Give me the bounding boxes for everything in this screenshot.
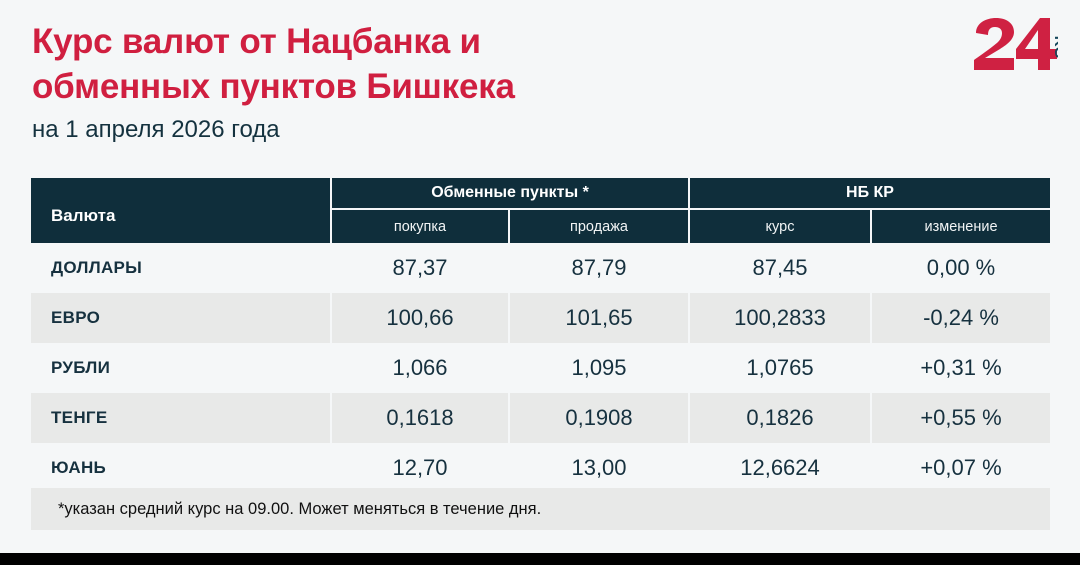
cell-sell: 87,79 xyxy=(509,243,689,293)
cell-sell: 101,65 xyxy=(509,293,689,343)
cell-change: +0,07 % xyxy=(871,443,1050,493)
footnote-row: *указан средний курс на 09.00. Может мен… xyxy=(31,488,1050,530)
cell-change: 0,00 % xyxy=(871,243,1050,293)
column-header-buy: покупка xyxy=(331,209,509,243)
cell-buy: 100,66 xyxy=(331,293,509,343)
cell-sell: 13,00 xyxy=(509,443,689,493)
cell-rate: 87,45 xyxy=(689,243,871,293)
cell-change: +0,55 % xyxy=(871,393,1050,443)
cell-currency: ТЕНГЕ xyxy=(31,393,331,443)
column-header-sell: продажа xyxy=(509,209,689,243)
cell-currency: РУБЛИ xyxy=(31,343,331,393)
column-header-currency: Валюта xyxy=(31,178,331,243)
cell-currency: ДОЛЛАРЫ xyxy=(31,243,331,293)
page-title-line-1: Курс валют от Нацбанка и xyxy=(32,20,792,65)
cell-rate: 12,6624 xyxy=(689,443,871,493)
cell-buy: 87,37 xyxy=(331,243,509,293)
logo-suffix-kg-icon: KG xyxy=(1051,36,1058,59)
column-group-header-nbkr: НБ КР xyxy=(689,178,1050,209)
logo-number-24-icon xyxy=(974,18,1057,70)
bottom-bar xyxy=(0,553,1080,565)
cell-change: +0,31 % xyxy=(871,343,1050,393)
column-header-rate: курс xyxy=(689,209,871,243)
page-header: Курс валют от Нацбанка и обменных пункто… xyxy=(0,0,1080,165)
table-header: Валюта Обменные пункты * НБ КР покупка п… xyxy=(31,178,1050,243)
table-row: ДОЛЛАРЫ 87,37 87,79 87,45 0,00 % xyxy=(31,243,1050,293)
footnote-text: *указан средний курс на 09.00. Может мен… xyxy=(31,500,541,519)
table-body: ДОЛЛАРЫ 87,37 87,79 87,45 0,00 % ЕВРО 10… xyxy=(31,243,1050,493)
cell-currency: ЮАНЬ xyxy=(31,443,331,493)
cell-sell: 1,095 xyxy=(509,343,689,393)
cell-buy: 12,70 xyxy=(331,443,509,493)
cell-rate: 0,1826 xyxy=(689,393,871,443)
table-header-group-row: Валюта Обменные пункты * НБ КР xyxy=(31,178,1050,209)
cell-rate: 100,2833 xyxy=(689,293,871,343)
cell-buy: 1,066 xyxy=(331,343,509,393)
currency-rates-table: Валюта Обменные пункты * НБ КР покупка п… xyxy=(31,178,1050,493)
cell-sell: 0,1908 xyxy=(509,393,689,443)
cell-buy: 0,1618 xyxy=(331,393,509,443)
table-row: ТЕНГЕ 0,1618 0,1908 0,1826 +0,55 % xyxy=(31,393,1050,443)
table-row: РУБЛИ 1,066 1,095 1,0765 +0,31 % xyxy=(31,343,1050,393)
page-title: Курс валют от Нацбанка и обменных пункто… xyxy=(32,20,792,110)
column-header-change: изменение xyxy=(871,209,1050,243)
page-subtitle: на 1 апреля 2026 года xyxy=(32,116,280,144)
cell-rate: 1,0765 xyxy=(689,343,871,393)
cell-change: -0,24 % xyxy=(871,293,1050,343)
currency-rates-table-wrapper: Валюта Обменные пункты * НБ КР покупка п… xyxy=(31,178,1050,493)
table-row: ЕВРО 100,66 101,65 100,2833 -0,24 % xyxy=(31,293,1050,343)
column-group-header-exchange-points: Обменные пункты * xyxy=(331,178,689,209)
cell-currency: ЕВРО xyxy=(31,293,331,343)
page-title-line-2: обменных пунктов Бишкека xyxy=(32,65,792,110)
table-row: ЮАНЬ 12,70 13,00 12,6624 +0,07 % xyxy=(31,443,1050,493)
24kg-logo[interactable]: KG xyxy=(972,17,1058,73)
